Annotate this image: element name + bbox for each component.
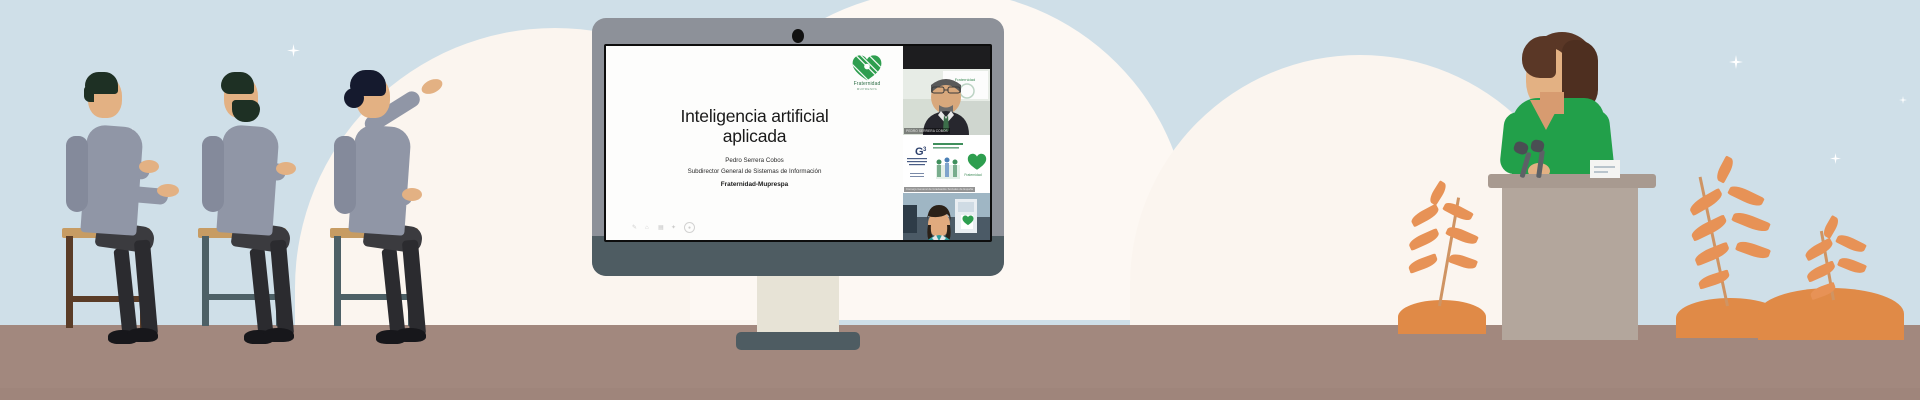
torso	[348, 124, 411, 236]
hand	[139, 160, 159, 173]
clover-icon	[851, 54, 883, 81]
slide-title-line1: Inteligencia artificial	[606, 106, 903, 126]
participant-video-panel[interactable]: Fraternidad PEDRO SERRERA COBOS	[903, 46, 990, 240]
webcam-icon	[792, 29, 804, 43]
arm-back	[202, 136, 224, 212]
hair-bun	[344, 88, 364, 108]
slide-title-line2: aplicada	[606, 126, 903, 146]
svg-text:Fraternidad: Fraternidad	[955, 77, 975, 82]
monitor-neck	[757, 276, 839, 334]
slide-organization: Fraternidad-Muprespa	[606, 181, 903, 188]
arm-back	[66, 136, 88, 212]
hair-side	[84, 86, 94, 102]
video-tile[interactable]: NATALIA FERNANDEZ LAVIADA	[903, 193, 990, 240]
more-options-icon[interactable]: ●	[684, 222, 695, 233]
name-card	[1590, 160, 1620, 178]
home-icon[interactable]: ⌂	[645, 225, 651, 231]
podium-top	[1488, 174, 1656, 188]
pointer-icon[interactable]: ✦	[671, 225, 677, 231]
presentation-slide[interactable]: Fraternidad MUPRESPA Inteligencia artifi…	[606, 46, 903, 240]
mound	[1398, 300, 1486, 334]
presenter-hair-front	[1522, 36, 1556, 78]
pen-icon[interactable]: ✎	[632, 225, 638, 231]
logo-tagline: MUPRESPA	[843, 87, 891, 91]
slide-presenter-role: Subdirector General de Sistemas de Infor…	[606, 168, 903, 175]
desktop-monitor[interactable]: Fraternidad MUPRESPA Inteligencia artifi…	[592, 18, 1004, 276]
monitor-shell-bottom	[592, 236, 1004, 276]
svg-text:Fraternidad: Fraternidad	[964, 173, 981, 177]
hand	[402, 188, 422, 201]
video-tile-label: PEDRO SERRERA COBOS	[904, 128, 950, 134]
shoe	[395, 328, 426, 342]
monitor-base	[736, 332, 860, 350]
slide-presenter-name: Pedro Serrera Cobos	[606, 157, 903, 164]
video-tile[interactable]: G 3	[903, 135, 990, 193]
participant-video-frame	[903, 193, 990, 240]
torso	[80, 124, 143, 236]
torso	[216, 124, 279, 236]
grid-icon[interactable]: ▦	[658, 225, 664, 231]
slide-toolbar[interactable]: ✎ ⌂ ▦ ✦ ●	[632, 222, 695, 233]
shoe	[263, 328, 294, 342]
shoe	[127, 328, 158, 342]
hand	[276, 162, 296, 175]
video-tile-label: Consejo General de Graduados Sociales de…	[904, 187, 975, 192]
slide-title: Inteligencia artificial aplicada	[606, 106, 903, 146]
arm-back	[334, 136, 356, 214]
hair	[221, 72, 254, 94]
shared-slide-frame: G 3	[903, 135, 990, 193]
speaker-video-frame: Fraternidad	[903, 69, 990, 135]
scene-illustration: Fraternidad MUPRESPA Inteligencia artifi…	[0, 0, 1920, 400]
fraternidad-logo: Fraternidad MUPRESPA	[843, 54, 891, 96]
podium-body	[1502, 188, 1638, 340]
video-tile[interactable]: Fraternidad PEDRO SERRERA COBOS	[903, 69, 990, 135]
hand	[157, 184, 179, 197]
floor-shadow	[0, 388, 1920, 400]
name-card-line	[1594, 171, 1608, 173]
name-card-line	[1594, 166, 1615, 168]
monitor-screen[interactable]: Fraternidad MUPRESPA Inteligencia artifi…	[606, 46, 990, 240]
